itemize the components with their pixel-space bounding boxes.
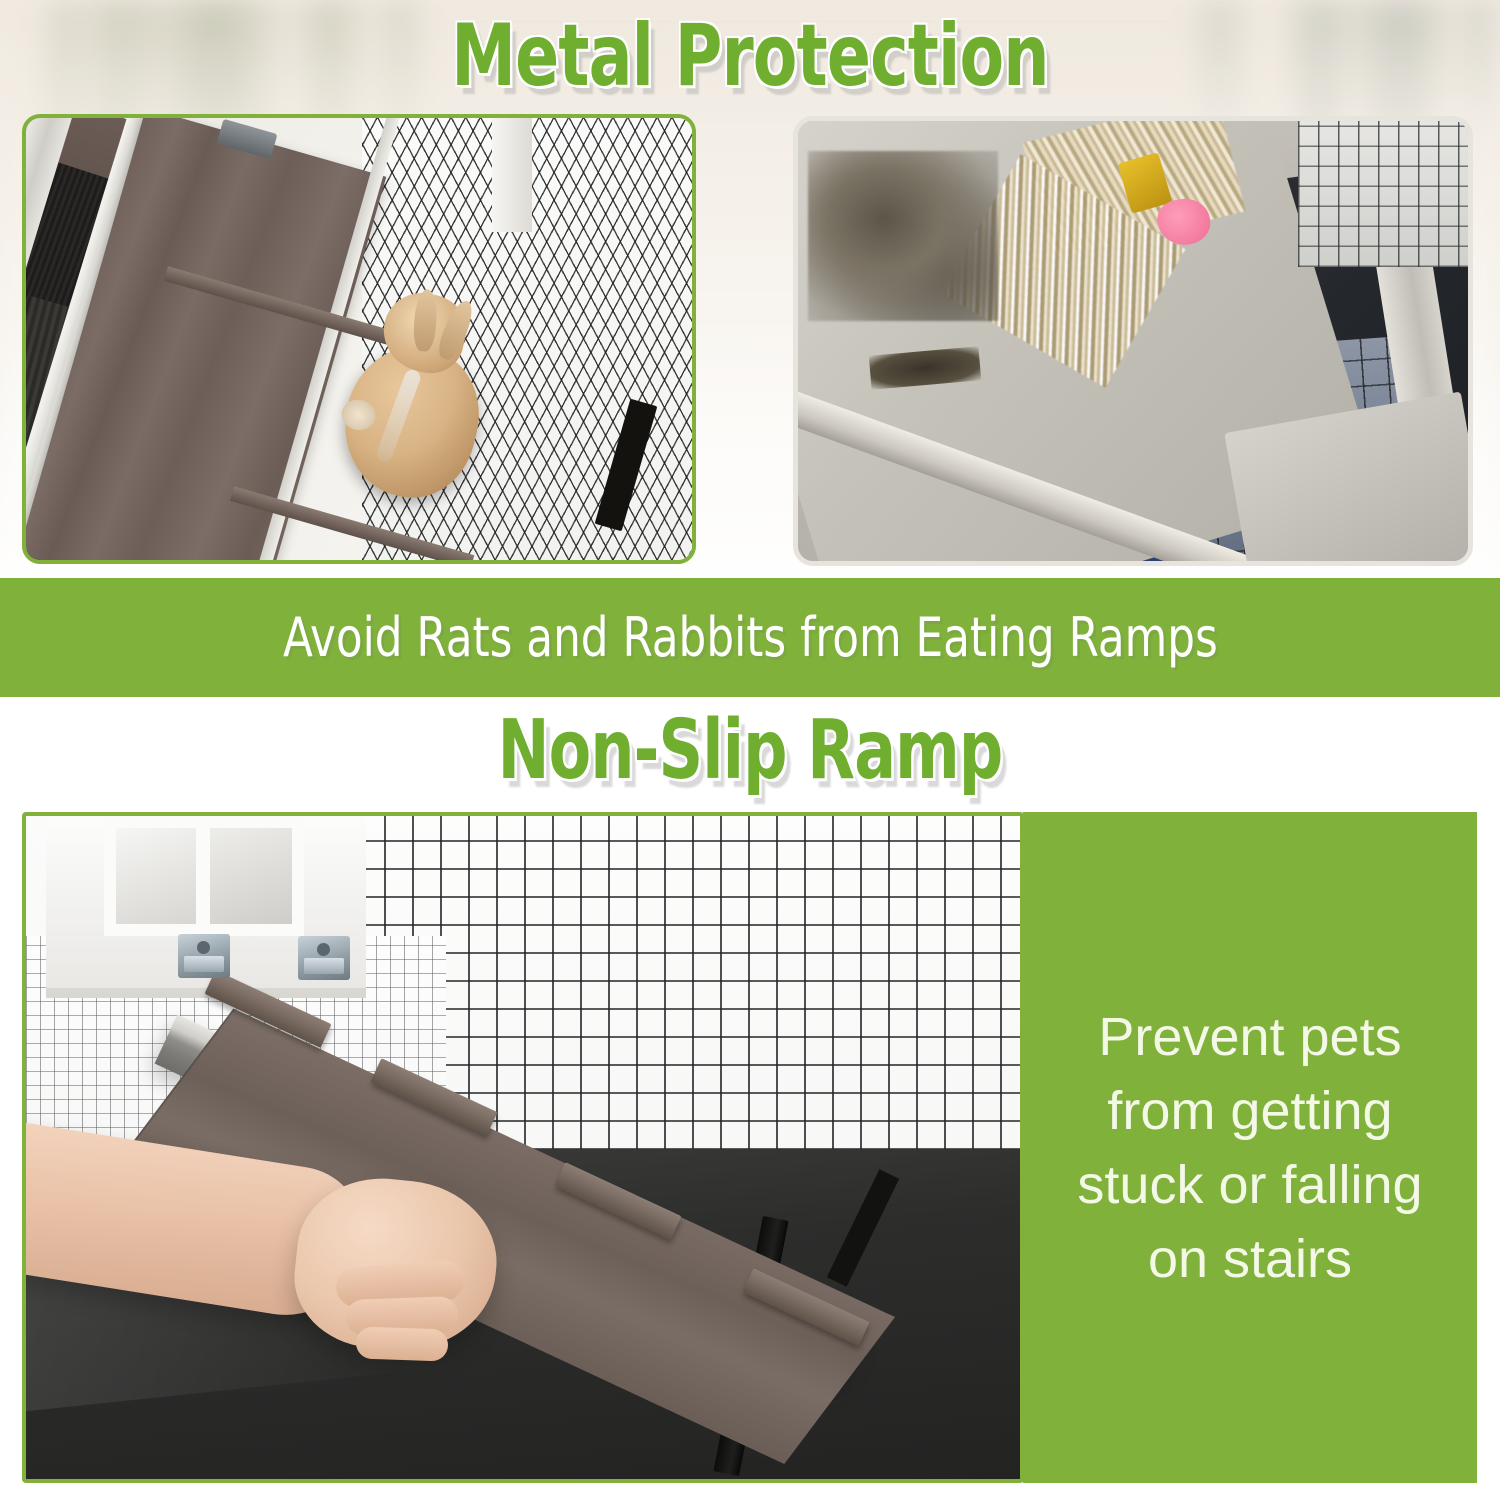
rabbit-ear-right xyxy=(434,297,478,363)
prevent-pets-panel: Prevent pets from getting stuck or falli… xyxy=(1023,812,1477,1483)
avoid-eating-ramps-banner: Avoid Rats and Rabbits from Eating Ramps xyxy=(0,578,1500,697)
hinge-screw-hole xyxy=(317,943,330,956)
photo2-dirt-debris xyxy=(808,151,998,321)
prevent-pets-text: Prevent pets from getting stuck or falli… xyxy=(1051,1000,1448,1296)
photo3-metal-hinge xyxy=(298,936,350,980)
metal-protection-section: Metal Protection xyxy=(0,0,1500,578)
hand-finger xyxy=(355,1326,448,1361)
hinge-plate xyxy=(184,956,224,972)
metal-protection-heading: Metal Protection xyxy=(120,8,1380,104)
hinge-screw-hole xyxy=(197,941,210,954)
photo3-door-mullion xyxy=(196,816,210,946)
banner-text: Avoid Rats and Rabbits from Eating Ramps xyxy=(283,606,1218,669)
photo2-top-right-mesh xyxy=(1298,116,1473,267)
photo-hand-holding-ramp xyxy=(22,812,1024,1483)
photo3-metal-hinge xyxy=(178,934,230,978)
hinge-plate xyxy=(304,958,344,974)
photo1-white-post xyxy=(492,114,532,232)
photo-rabbit-on-protected-ramp xyxy=(22,114,696,564)
non-slip-ramp-heading: Non-Slip Ramp xyxy=(120,703,1380,799)
rabbit-ear-left xyxy=(412,289,438,352)
photo-chewed-ramp-damage xyxy=(793,116,1473,566)
bottom-spacer xyxy=(0,1483,1500,1491)
photo3-hand xyxy=(22,1146,576,1446)
